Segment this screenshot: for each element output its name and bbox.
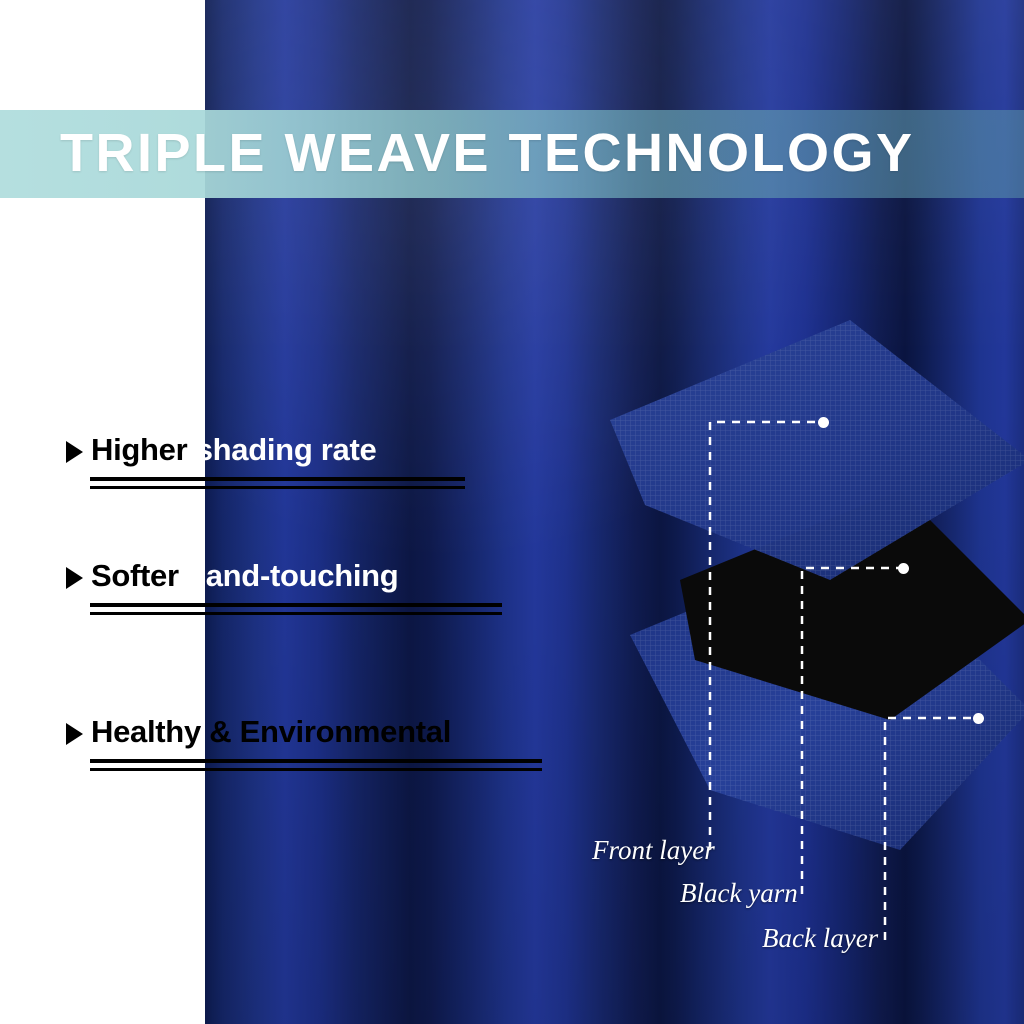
feature-1-label: Higher shading rate <box>91 432 376 468</box>
triangle-right-icon <box>66 567 83 589</box>
callout-lines <box>580 400 1020 960</box>
feature-2-underline <box>90 603 502 615</box>
feature-1-underline <box>90 477 465 489</box>
feature-item-1: Higher shading rate <box>66 432 586 489</box>
feature-3-label: Healthy & Environmental <box>91 714 451 750</box>
feature-item-2: Softer hand-touching <box>66 558 586 615</box>
feature-item-3: Healthy & Environmental <box>66 714 586 771</box>
triangle-right-icon <box>66 723 83 745</box>
caption-back-layer: Back layer <box>762 923 878 954</box>
caption-black-yarn: Black yarn <box>680 878 798 909</box>
triangle-right-icon <box>66 441 83 463</box>
feature-3-underline <box>90 759 542 771</box>
caption-front-layer: Front layer <box>592 835 715 866</box>
page-title: TRIPLE WEAVE TECHNOLOGY <box>60 122 1010 184</box>
black-yarn-anchor-dot <box>898 563 909 574</box>
feature-2-label: Softer hand-touching <box>91 558 398 594</box>
back-layer-anchor-dot <box>973 713 984 724</box>
front-layer-anchor-dot <box>818 417 829 428</box>
product-feature-image: TRIPLE WEAVE TECHNOLOGY Higher shading r… <box>0 0 1024 1024</box>
